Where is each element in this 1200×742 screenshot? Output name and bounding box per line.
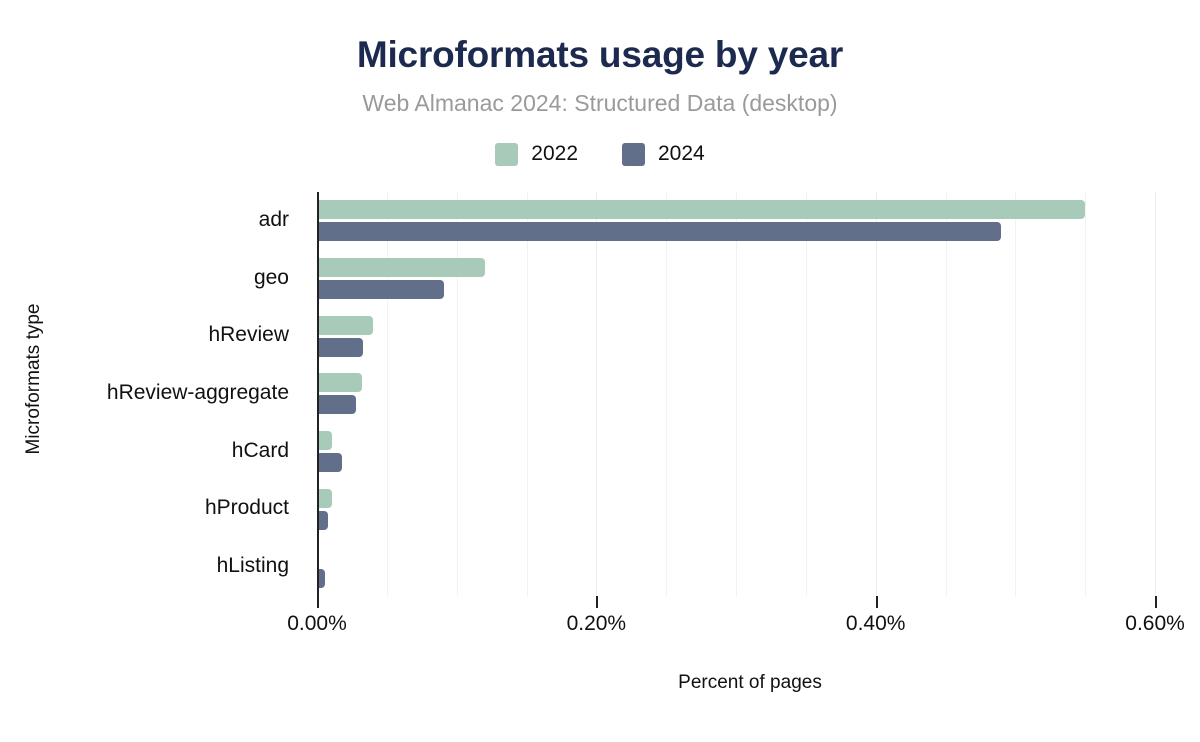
bar-2024-hReview-aggregate[interactable] bbox=[317, 395, 356, 414]
legend-swatch-icon-2024 bbox=[622, 143, 645, 166]
x-tick-mark bbox=[596, 596, 598, 608]
x-tick-label-0.00%: 0.00% bbox=[237, 612, 397, 636]
bar-group bbox=[317, 192, 1183, 250]
chart-legend: 2022 2024 bbox=[0, 142, 1200, 166]
legend-label-2022: 2022 bbox=[531, 142, 578, 166]
y-axis-label-hProduct: hProduct bbox=[0, 496, 289, 520]
x-tick-mark bbox=[876, 596, 878, 608]
x-axis-title: Percent of pages bbox=[317, 672, 1183, 694]
bar-2022-hReview[interactable] bbox=[317, 316, 373, 335]
x-tick-label-0.20%: 0.20% bbox=[516, 612, 676, 636]
x-tick-mark bbox=[317, 596, 319, 608]
x-tick-label-0.40%: 0.40% bbox=[796, 612, 956, 636]
legend-swatch-icon-2022 bbox=[495, 143, 518, 166]
bar-2024-geo[interactable] bbox=[317, 280, 444, 299]
bar-2022-hReview-aggregate[interactable] bbox=[317, 373, 362, 392]
legend-item-2022[interactable]: 2022 bbox=[495, 142, 578, 166]
plot-area bbox=[317, 192, 1183, 596]
y-axis-label-hListing: hListing bbox=[0, 554, 289, 578]
legend-label-2024: 2024 bbox=[658, 142, 705, 166]
legend-item-2024[interactable]: 2024 bbox=[622, 142, 705, 166]
bar-group bbox=[317, 423, 1183, 481]
chart-subtitle: Web Almanac 2024: Structured Data (deskt… bbox=[0, 90, 1200, 117]
bar-2024-hCard[interactable] bbox=[317, 453, 342, 472]
bar-2022-geo[interactable] bbox=[317, 258, 485, 277]
y-axis-line bbox=[317, 192, 319, 596]
bar-2022-hCard[interactable] bbox=[317, 431, 332, 450]
bar-2024-adr[interactable] bbox=[317, 222, 1001, 241]
bar-group bbox=[317, 538, 1183, 596]
bar-group bbox=[317, 481, 1183, 539]
x-axis-tick-labels: 0.00%0.20%0.40%0.60% bbox=[0, 612, 1200, 642]
bar-group bbox=[317, 250, 1183, 308]
bar-group bbox=[317, 307, 1183, 365]
bar-group bbox=[317, 365, 1183, 423]
y-axis-title: Microformats type bbox=[23, 269, 45, 489]
y-axis-label-adr: adr bbox=[0, 208, 289, 232]
x-axis-tick-marks bbox=[317, 596, 1183, 610]
x-tick-mark bbox=[1155, 596, 1157, 608]
y-axis-tick-labels: adrgeohReviewhReview-aggregatehCardhProd… bbox=[0, 192, 303, 596]
bar-2022-adr[interactable] bbox=[317, 200, 1085, 219]
bar-2022-hProduct[interactable] bbox=[317, 489, 332, 508]
x-tick-label-0.60%: 0.60% bbox=[1075, 612, 1200, 636]
chart-title: Microformats usage by year bbox=[0, 34, 1200, 76]
bar-2024-hReview[interactable] bbox=[317, 338, 363, 357]
